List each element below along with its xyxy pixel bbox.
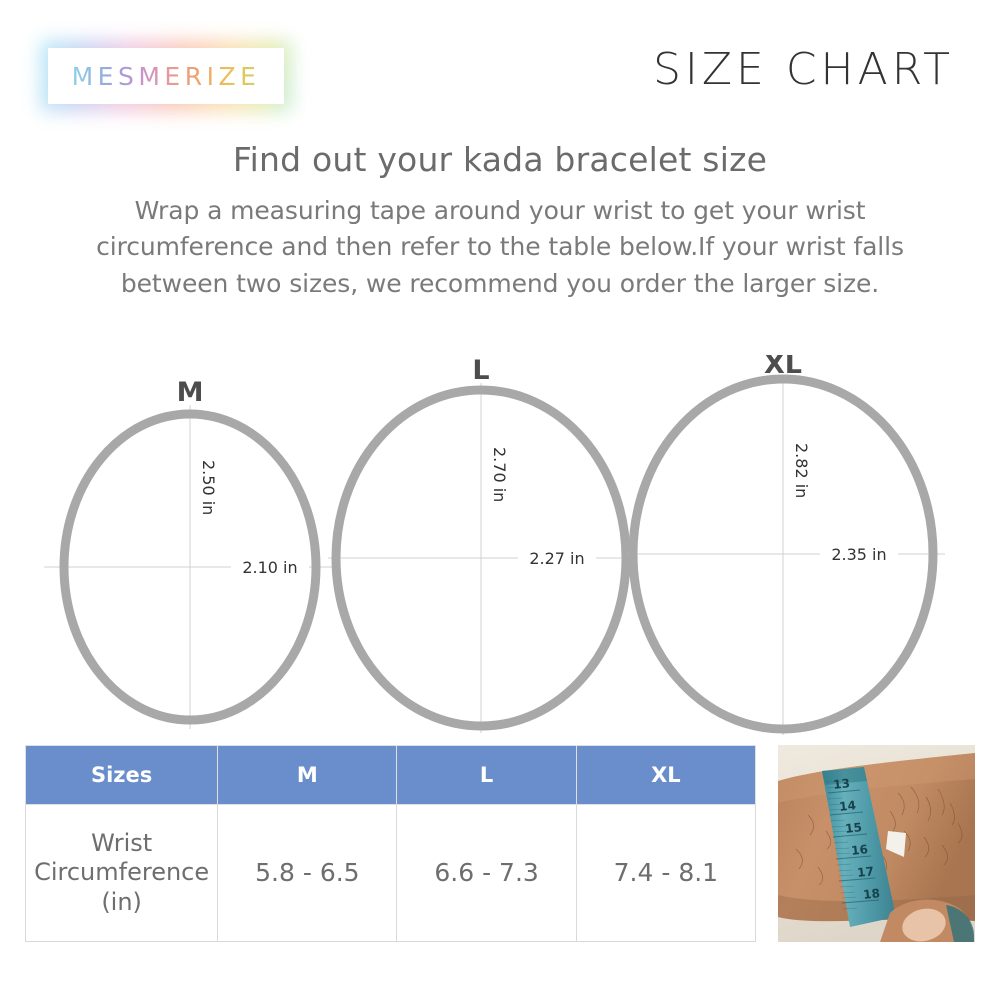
intro-block: Find out your kada bracelet size Wrap a … bbox=[50, 140, 950, 302]
cell-wrist-range-m: 5.8 - 6.5 bbox=[218, 805, 397, 942]
logo-box: MESMERIZE bbox=[48, 48, 284, 104]
svg-text:14: 14 bbox=[839, 798, 857, 814]
table-header-m: M bbox=[218, 746, 397, 805]
size-chart-page: MESMERIZE SIZE CHART Find out your kada … bbox=[0, 0, 1000, 1000]
row-label-line-2: Circumference bbox=[27, 858, 216, 887]
oval-width-label-m: 2.10 in bbox=[242, 558, 297, 577]
cell-wrist-range-l: 6.6 - 7.3 bbox=[397, 805, 576, 942]
table-header-row: Sizes M L XL bbox=[26, 746, 756, 805]
table-header-xl: XL bbox=[576, 746, 755, 805]
page-title: SIZE CHART bbox=[653, 44, 954, 95]
svg-text:16: 16 bbox=[851, 842, 869, 858]
oval-size-label-m: M bbox=[177, 377, 204, 408]
oval-diagram-l: L 2.70 in 2.27 in bbox=[328, 355, 638, 733]
oval-width-label-xl: 2.35 in bbox=[831, 545, 886, 564]
cell-wrist-range-xl: 7.4 - 8.1 bbox=[576, 805, 755, 942]
intro-heading: Find out your kada bracelet size bbox=[50, 140, 950, 179]
oval-width-label-l: 2.27 in bbox=[529, 549, 584, 568]
size-table-wrap: Sizes M L XL Wrist Circumference (in) 5.… bbox=[25, 745, 756, 942]
intro-body: Wrap a measuring tape around your wrist … bbox=[50, 193, 950, 302]
oval-diagram-xl: XL 2.82 in 2.35 in bbox=[628, 355, 945, 735]
oval-size-label-l: L bbox=[472, 355, 489, 386]
svg-text:17: 17 bbox=[857, 864, 875, 880]
table-row: Wrist Circumference (in) 5.8 - 6.5 6.6 -… bbox=[26, 805, 756, 942]
wrist-measuring-photo: 13 14 15 16 17 18 bbox=[778, 745, 975, 942]
row-label-line-1: Wrist bbox=[27, 829, 216, 858]
svg-text:18: 18 bbox=[863, 886, 881, 902]
oval-diagram-m: M 2.50 in 2.10 in bbox=[44, 377, 336, 729]
size-table: Sizes M L XL Wrist Circumference (in) 5.… bbox=[25, 745, 756, 942]
svg-text:15: 15 bbox=[845, 820, 863, 836]
row-label-line-3: (in) bbox=[27, 888, 216, 917]
row-label-wrist-circumference: Wrist Circumference (in) bbox=[26, 805, 218, 942]
oval-diagram-group: M 2.50 in 2.10 in L 2.70 in 2.27 in bbox=[0, 355, 1000, 750]
table-header-sizes: Sizes bbox=[26, 746, 218, 805]
oval-height-label-xl: 2.82 in bbox=[792, 443, 811, 498]
oval-size-label-xl: XL bbox=[764, 355, 802, 380]
brand-logo: MESMERIZE bbox=[48, 48, 284, 104]
logo-text: MESMERIZE bbox=[72, 62, 261, 91]
table-header-l: L bbox=[397, 746, 576, 805]
oval-height-label-l: 2.70 in bbox=[490, 447, 509, 502]
oval-height-label-m: 2.50 in bbox=[199, 460, 218, 515]
svg-text:13: 13 bbox=[833, 776, 851, 792]
